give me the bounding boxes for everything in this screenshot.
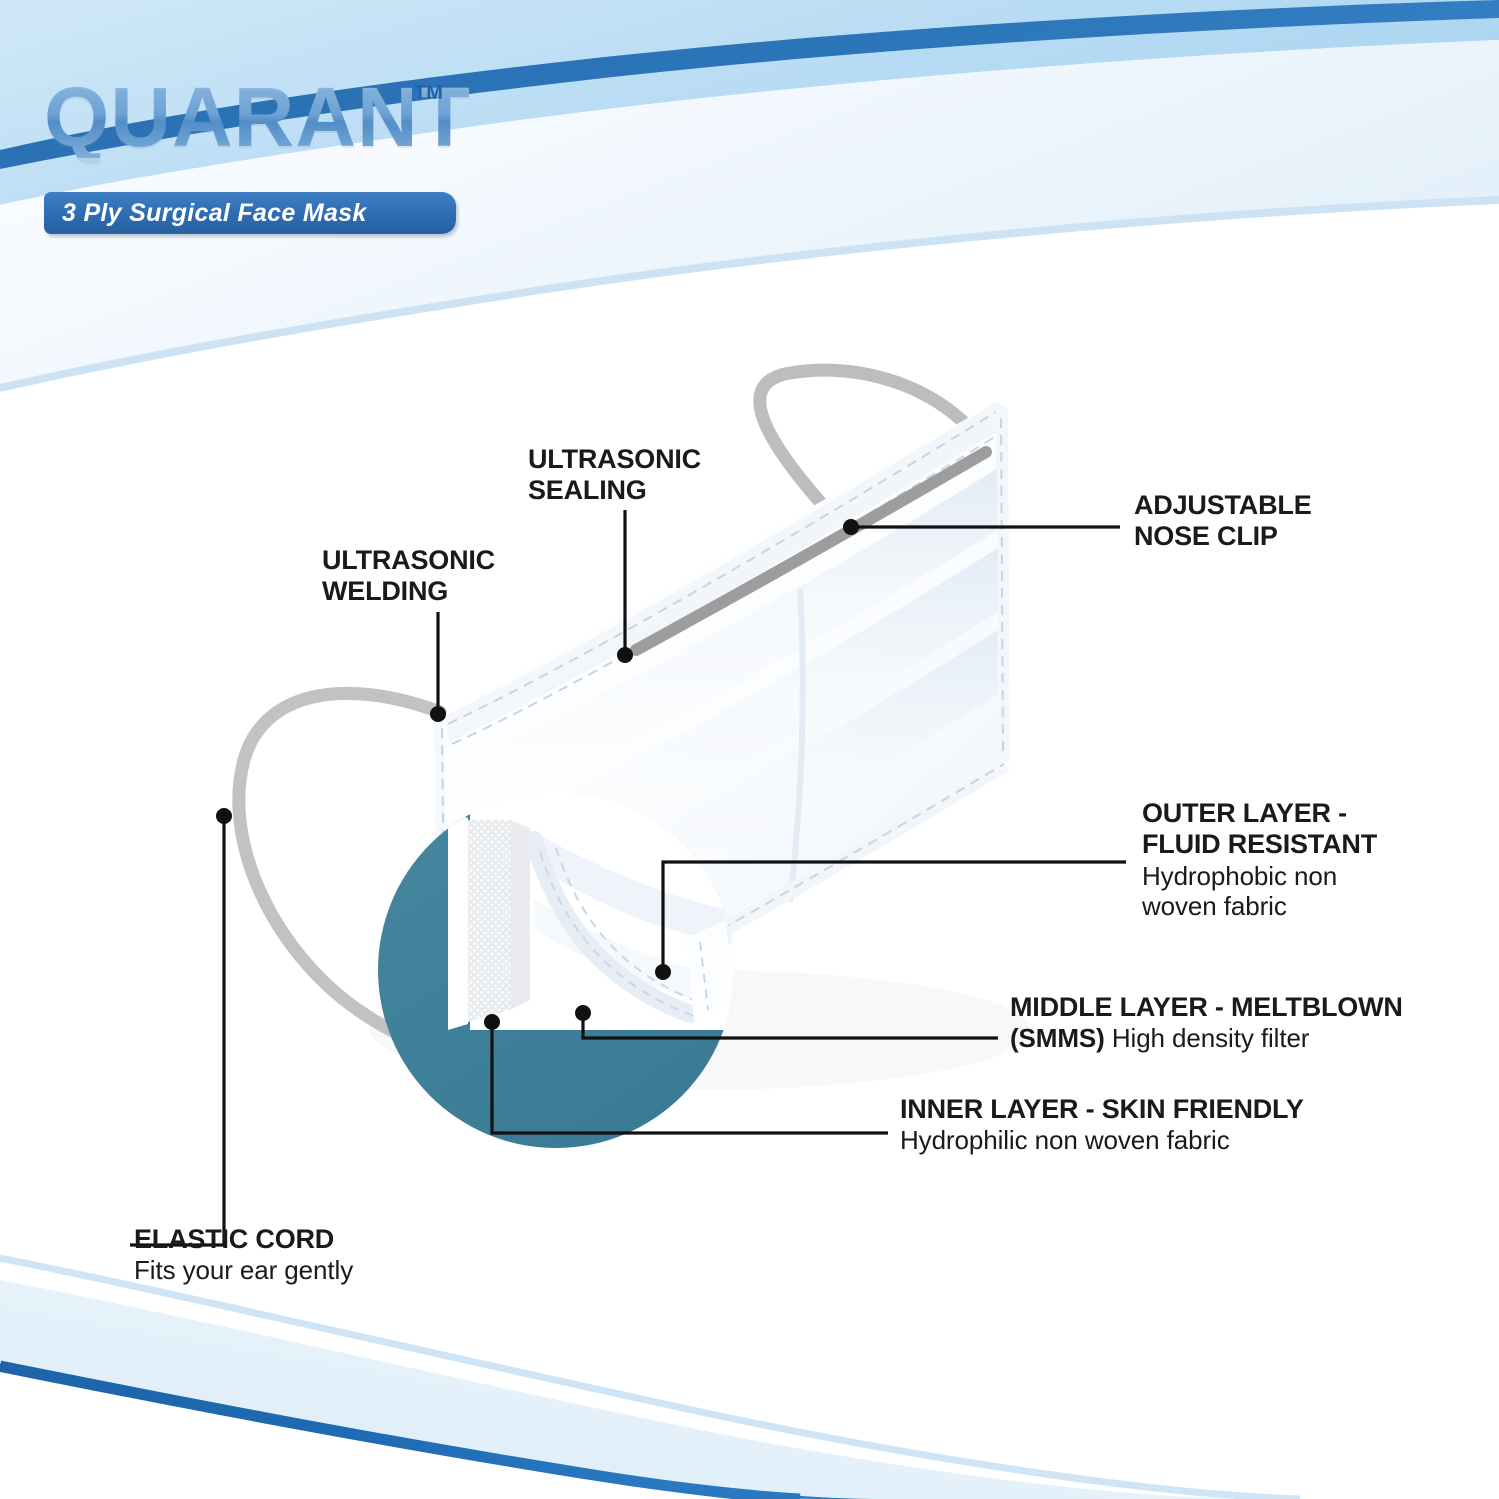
callout-outer-layer-subtitle: Hydrophobic non woven fabric xyxy=(1142,861,1377,921)
callout-ultrasonic-sealing: ULTRASONIC SEALING xyxy=(528,444,701,507)
dot-ultrasonic-welding xyxy=(430,706,446,722)
leader-outer-layer xyxy=(663,862,1126,972)
leader-endpoint-dots xyxy=(216,519,859,1030)
callout-adjustable-nose-clip: ADJUSTABLE NOSE CLIP xyxy=(1134,490,1312,553)
callout-inner-layer-title: INNER LAYER - SKIN FRIENDLY xyxy=(900,1094,1304,1125)
callout-elastic-cord: ELASTIC CORD Fits your ear gently xyxy=(134,1224,353,1285)
callout-middle-layer-subtitle: High density filter xyxy=(1105,1023,1310,1053)
callout-outer-layer: OUTER LAYER - FLUID RESISTANT Hydrophobi… xyxy=(1142,798,1377,921)
callout-middle-layer-subtitle-line: (SMMS) High density filter xyxy=(1010,1023,1403,1053)
callout-adjustable-nose-clip-title: ADJUSTABLE NOSE CLIP xyxy=(1134,490,1312,553)
callout-ultrasonic-welding-title: ULTRASONIC WELDING xyxy=(322,545,495,608)
leader-elastic-cord xyxy=(130,816,224,1245)
leader-middle-layer xyxy=(583,1035,998,1038)
callout-ultrasonic-sealing-title: ULTRASONIC SEALING xyxy=(528,444,701,507)
infographic-canvas: QUARANT TM 3 Ply Surgical Face Mask xyxy=(0,0,1499,1499)
callout-elastic-cord-subtitle: Fits your ear gently xyxy=(134,1255,353,1285)
callout-middle-layer-smms: (SMMS) xyxy=(1010,1023,1105,1053)
callout-inner-layer-subtitle: Hydrophilic non woven fabric xyxy=(900,1125,1304,1155)
callout-inner-layer: INNER LAYER - SKIN FRIENDLY Hydrophilic … xyxy=(900,1094,1304,1155)
callout-middle-layer: MIDDLE LAYER - MELTBLOWN (SMMS) High den… xyxy=(1010,992,1403,1053)
trademark-symbol: TM xyxy=(414,82,443,105)
product-tagline-text: 3 Ply Surgical Face Mask xyxy=(44,199,367,228)
dot-outer-layer xyxy=(655,964,671,980)
product-tagline-banner: 3 Ply Surgical Face Mask xyxy=(44,192,456,234)
callout-outer-layer-title: OUTER LAYER - FLUID RESISTANT xyxy=(1142,798,1377,861)
dot-inner-layer xyxy=(484,1014,500,1030)
callout-middle-layer-title: MIDDLE LAYER - MELTBLOWN xyxy=(1010,992,1403,1023)
dot-elastic-cord xyxy=(216,808,232,824)
brand-logo: QUARANT xyxy=(44,78,471,158)
callout-elastic-cord-title: ELASTIC CORD xyxy=(134,1224,353,1255)
dot-adjustable-nose-clip xyxy=(843,519,859,535)
dot-ultrasonic-sealing xyxy=(617,647,633,663)
callout-ultrasonic-welding: ULTRASONIC WELDING xyxy=(322,545,495,608)
brand-name: QUARANT xyxy=(44,78,471,158)
